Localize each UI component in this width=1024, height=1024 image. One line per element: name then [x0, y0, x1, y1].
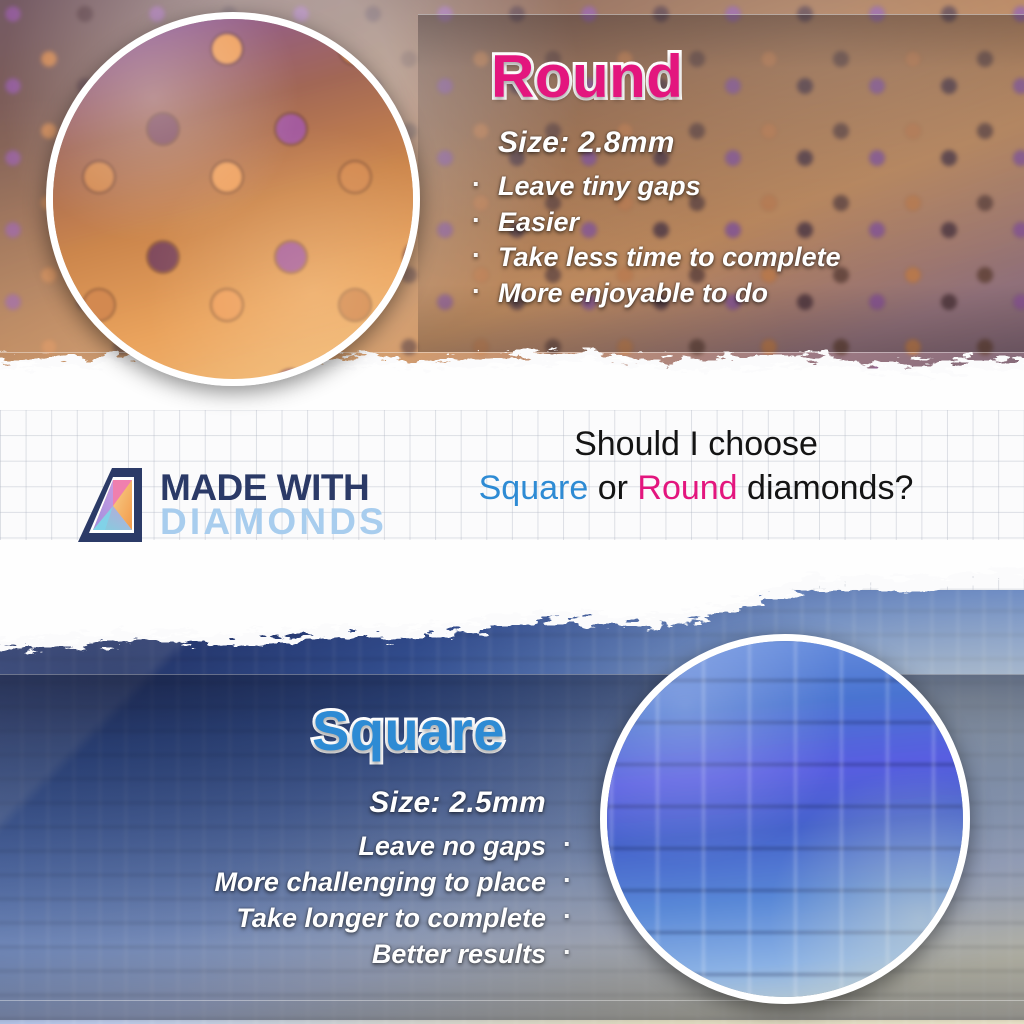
- bullet-icon: ·: [472, 238, 481, 274]
- list-item: Leave no gaps ·: [58, 829, 582, 865]
- bullet-icon: ·: [472, 203, 481, 239]
- diamond-gem-icon: [72, 466, 146, 544]
- headline-question: Should I choose Square or Round diamonds…: [416, 424, 976, 508]
- headline-conjunction: or: [588, 469, 637, 507]
- square-closeup-highlight: [607, 641, 963, 997]
- list-item-label: Take longer to complete: [236, 903, 546, 933]
- keyword-round: Round: [637, 469, 737, 507]
- list-item-label: Take less time to complete: [498, 242, 841, 272]
- list-item-label: More enjoyable to do: [498, 278, 768, 308]
- square-panel-title: Square: [312, 703, 505, 759]
- list-item-label: Easier: [498, 207, 579, 237]
- list-item-label: Leave tiny gaps: [498, 171, 701, 201]
- square-size-line: Size: 2.5mm: [58, 786, 546, 820]
- keyword-square: Square: [479, 469, 589, 507]
- square-panel-spec-list: Size: 2.5mm Leave no gaps · More challen…: [58, 786, 582, 973]
- list-item: More challenging to place ·: [58, 865, 582, 901]
- list-item-label: Leave no gaps: [358, 831, 546, 861]
- round-panel-title: Round: [491, 47, 683, 107]
- list-item: · Leave tiny gaps: [462, 169, 1002, 205]
- list-item: · More enjoyable to do: [462, 276, 1002, 312]
- square-diamond-closeup-inset: [600, 634, 970, 1004]
- headline-line2: Square or Round diamonds?: [416, 468, 976, 508]
- round-diamond-closeup-inset: [46, 12, 420, 386]
- bullet-icon: ·: [563, 935, 572, 971]
- list-item: · Easier: [462, 205, 1002, 241]
- bullet-icon: ·: [563, 863, 572, 899]
- round-panel-spec-list: Size: 2.8mm · Leave tiny gaps · Easier ·…: [462, 126, 1002, 312]
- bullet-icon: ·: [563, 827, 572, 863]
- round-scrim-hairline-top: [418, 14, 1024, 15]
- round-size-line: Size: 2.8mm: [498, 126, 1002, 160]
- round-closeup-highlight: [53, 19, 413, 379]
- brand-name-line2: DIAMONDS: [160, 505, 387, 539]
- bullet-icon: ·: [563, 899, 572, 935]
- brand-wordmark: MADE WITH DIAMONDS: [160, 471, 387, 539]
- square-scrim-hairline-bottom: [0, 1000, 1024, 1001]
- brand-logo: MADE WITH DIAMONDS: [72, 460, 402, 550]
- list-item: · Take less time to complete: [462, 240, 1002, 276]
- square-bullet-list: Leave no gaps · More challenging to plac…: [58, 829, 582, 973]
- brand-name-line1: MADE WITH: [160, 471, 387, 505]
- headline-line1: Should I choose: [574, 425, 818, 463]
- bullet-icon: ·: [472, 274, 481, 310]
- list-item: Take longer to complete ·: [58, 901, 582, 937]
- round-bullet-list: · Leave tiny gaps · Easier · Take less t…: [462, 169, 1002, 312]
- list-item-label: Better results: [372, 939, 546, 969]
- list-item-label: More challenging to place: [214, 867, 546, 897]
- infographic-canvas: Round Size: 2.8mm · Leave tiny gaps · Ea…: [0, 0, 1024, 1024]
- list-item: Better results ·: [58, 937, 582, 973]
- headline-suffix: diamonds?: [738, 469, 914, 507]
- bullet-icon: ·: [472, 167, 481, 203]
